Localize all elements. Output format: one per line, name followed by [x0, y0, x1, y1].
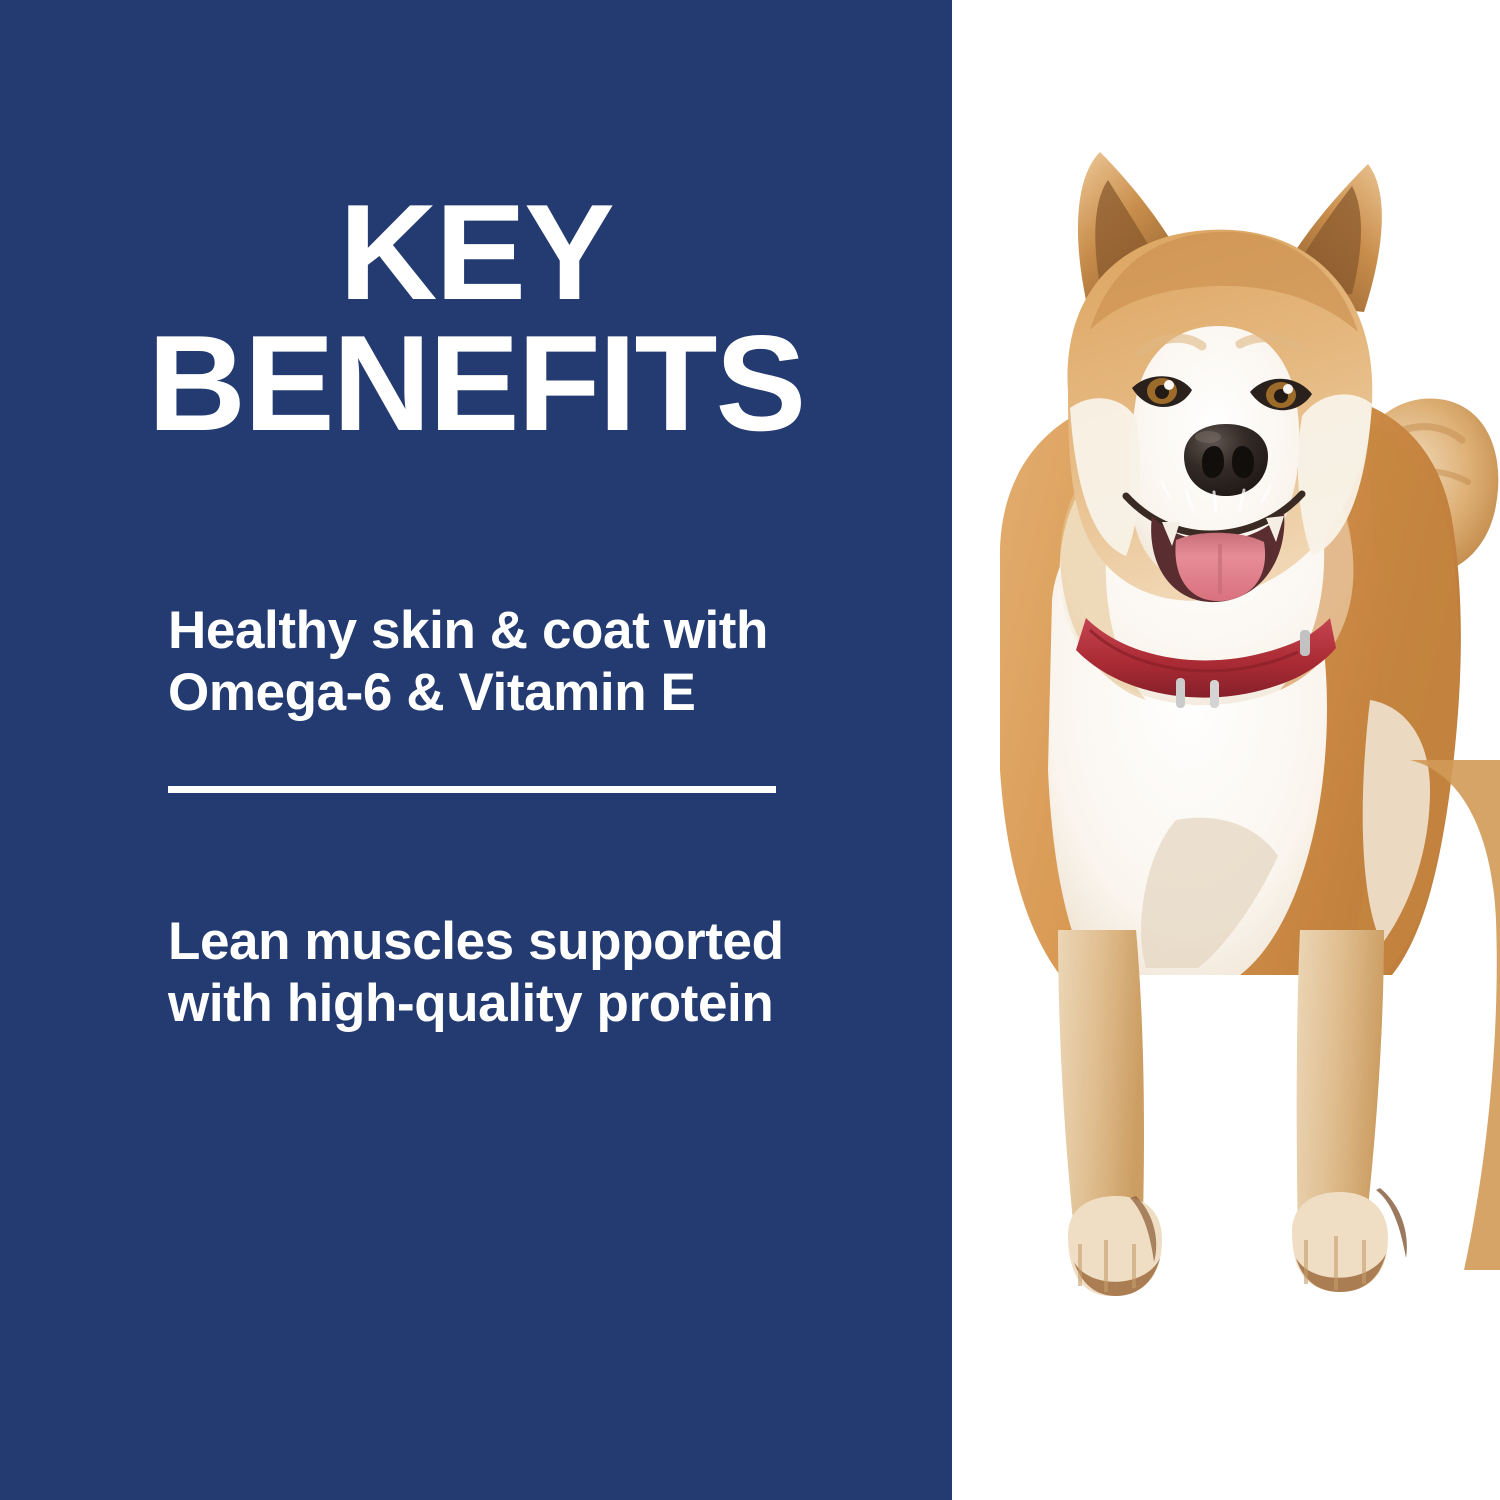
- shiba-inu-dog-image: [952, 0, 1500, 1500]
- page-title: KEY BENEFITS: [0, 187, 952, 448]
- key-benefits-panel: KEY BENEFITS Healthy skin & coat with Om…: [0, 0, 1500, 1500]
- benefit-item-lean-muscles: Lean muscles supported with high-quality…: [168, 911, 808, 1035]
- dog-nose: [1184, 424, 1268, 496]
- benefits-info-panel: KEY BENEFITS Healthy skin & coat with Om…: [0, 0, 952, 1500]
- benefits-divider: [168, 786, 776, 793]
- headline-line-2: BENEFITS: [0, 318, 952, 449]
- product-photo-area: [952, 0, 1500, 1500]
- benefit-item-skin-and-coat: Healthy skin & coat with Omega-6 & Vitam…: [168, 600, 808, 724]
- headline-line-1: KEY: [0, 187, 952, 318]
- benefits-list: Healthy skin & coat with Omega-6 & Vitam…: [168, 600, 808, 1088]
